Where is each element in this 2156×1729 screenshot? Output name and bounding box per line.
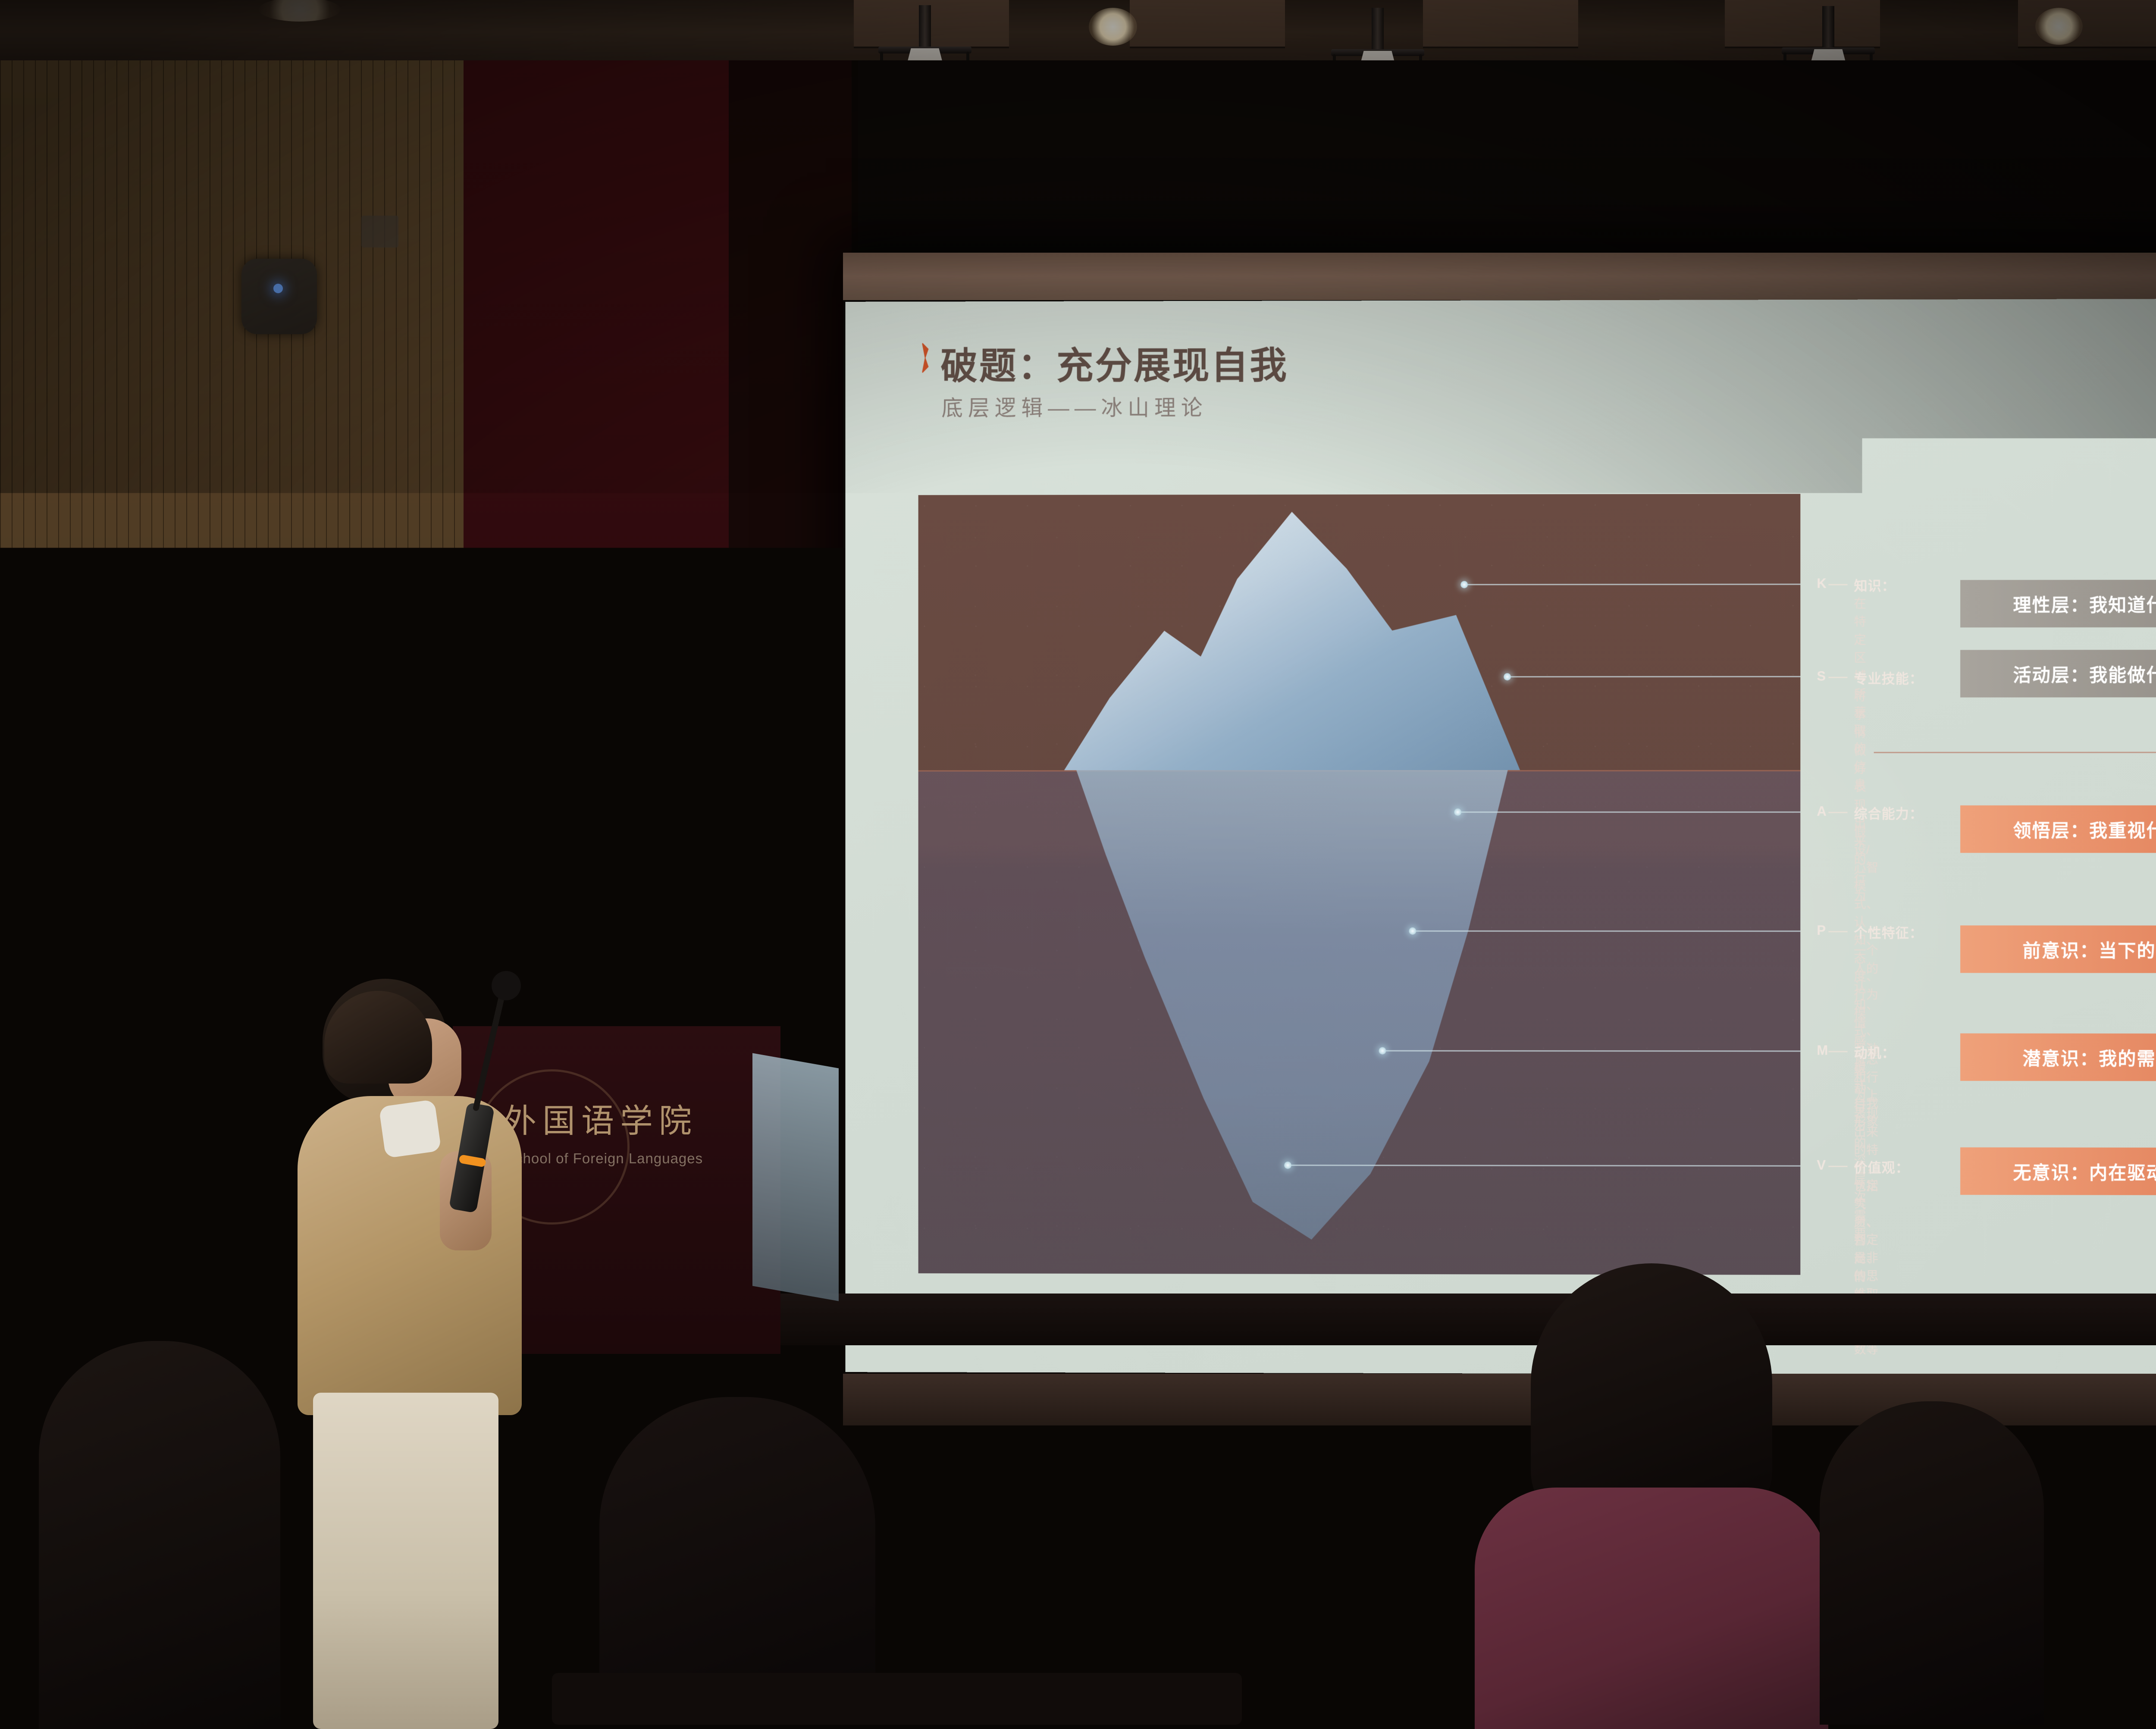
audience-hair — [1820, 1401, 2044, 1725]
screen-top-band — [843, 253, 2156, 300]
wall-sensor-device — [241, 259, 317, 334]
title-marker-icon — [922, 342, 929, 374]
confidence-monitor — [752, 1053, 839, 1301]
layer-box-subconscious[interactable]: 潜意识：我的需要 — [1960, 1034, 2156, 1081]
audience-member — [2147, 1263, 2156, 1725]
annotation-code: V — [1817, 1158, 1826, 1173]
audience-hair — [39, 1341, 280, 1729]
downlight — [2035, 8, 2083, 45]
microphone-band — [458, 1154, 486, 1167]
leader-line — [1507, 676, 1800, 677]
leader-line — [1457, 811, 1800, 813]
leader-dot — [1379, 1047, 1386, 1055]
ceiling-panel — [854, 0, 1009, 48]
leader-line — [1464, 584, 1800, 586]
dark-wall-panel — [729, 60, 858, 1164]
annotation-title: 个性特征： — [1854, 922, 1923, 941]
audience-member — [1475, 1263, 1828, 1725]
mic-windscreen — [492, 971, 521, 1000]
annotation-code: P — [1817, 923, 1826, 938]
annotation-title: 动机： — [1854, 1042, 1896, 1061]
presenter-collar — [379, 1099, 441, 1159]
wall-outlet — [1082, 1538, 1114, 1563]
layer-box-preconscious[interactable]: 前意识：当下的我 — [1960, 925, 2156, 973]
layer-box-activity[interactable]: 活动层：我能做什么 — [1960, 650, 2156, 698]
annotation-title: 专业技能： — [1854, 668, 1923, 687]
wall-seam — [0, 955, 464, 957]
audience-member — [39, 1341, 306, 1729]
leader-dot — [1284, 1162, 1291, 1169]
iceberg-photo — [918, 494, 1801, 1275]
layer-box-rational[interactable]: 理性层：我知道什么 — [1960, 579, 2156, 627]
annotation-code: S — [1817, 669, 1826, 684]
annotation-code: K — [1817, 576, 1827, 591]
ceiling-panel — [1725, 0, 1880, 48]
audience-member — [1820, 1401, 2061, 1725]
leader-dot — [1460, 581, 1468, 588]
ceiling-panel — [1423, 0, 1578, 48]
seat-back — [552, 1673, 1242, 1725]
presenter — [298, 979, 539, 1725]
ceiling-panel — [1130, 0, 1285, 48]
annotation-code: A — [1817, 804, 1827, 819]
seat-back — [1518, 1682, 1949, 1729]
wall-outlet — [361, 216, 398, 247]
wall-seam — [0, 638, 464, 640]
screen-frame: 破题：充分展现自我 底层逻辑——冰山理论 — [843, 253, 2156, 1425]
section-divider — [1874, 752, 2156, 753]
leader-line — [1412, 930, 1800, 932]
annotation-title: 价值观： — [1854, 1157, 1909, 1176]
wall-outlet — [1419, 1544, 1451, 1569]
iceberg-above-water — [1064, 511, 1520, 770]
annotation-title: 综合能力： — [1854, 803, 1923, 822]
annotation-code: M — [1817, 1043, 1828, 1058]
layer-box-unconscious[interactable]: 无意识：内在驱动力 — [1960, 1147, 2156, 1195]
presenter-trousers — [313, 1393, 498, 1729]
projector-screen: 破题：充分展现自我 底层逻辑——冰山理论 — [843, 253, 2156, 1425]
page-title: 破题：充分展现自我 — [940, 335, 1288, 390]
page-subtitle: 底层逻辑——冰山理论 — [941, 391, 1207, 422]
leader-dot — [1504, 673, 1511, 680]
annotation-title: 知识： — [1854, 575, 1896, 594]
leader-dot — [1454, 808, 1461, 816]
led-indicator-icon — [273, 284, 283, 293]
downlight — [1089, 8, 1137, 46]
layer-box-comprehension[interactable]: 领悟层：我重视什么 — [1960, 805, 2156, 853]
presentation-slide: 破题：充分展现自我 底层逻辑——冰山理论 — [846, 298, 2156, 1375]
leader-dot — [1409, 927, 1416, 935]
